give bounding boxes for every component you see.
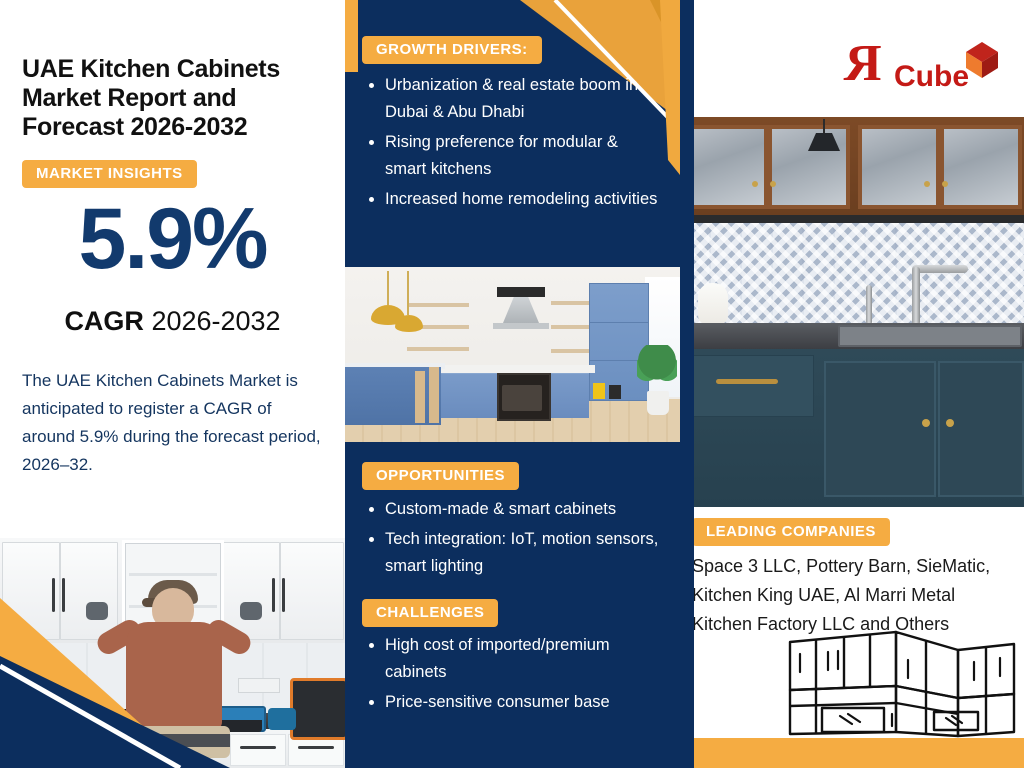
brand-logo[interactable]: R Cube (832, 34, 1002, 102)
list-item: Increased home remodeling activities (365, 186, 661, 213)
challenges-badge: CHALLENGES (362, 599, 498, 627)
list-item: Price-sensitive consumer base (365, 689, 661, 716)
installer-photo (0, 538, 345, 768)
leading-companies-badge-label: LEADING COMPANIES (692, 518, 890, 546)
growth-drivers-badge: GROWTH DRIVERS: (362, 36, 542, 64)
market-description: The UAE Kitchen Cabinets Market is antic… (22, 367, 327, 479)
market-insights-badge: MARKET INSIGHTS (22, 160, 197, 188)
wood-teal-kitchen-photo (680, 117, 1024, 507)
cagr-label: CAGR 2026-2032 (0, 305, 345, 337)
list-item: Tech integration: IoT, motion sensors, s… (365, 526, 661, 580)
market-insights-badge-label: MARKET INSIGHTS (22, 160, 197, 188)
bottom-orange-bar (680, 738, 1024, 768)
challenges-badge-label: CHALLENGES (362, 599, 498, 627)
cagr-label-years: 2026-2032 (144, 306, 281, 336)
challenges-list: High cost of imported/premium cabinets P… (365, 632, 661, 719)
right-panel-left-navy-strip (680, 0, 694, 768)
list-item: Rising preference for modular & smart ki… (365, 129, 661, 183)
orange-tab-decoration (345, 0, 358, 72)
kitchen-cabinet-line-art-icon (788, 628, 1024, 740)
opportunities-badge-label: OPPORTUNITIES (362, 462, 519, 490)
cagr-label-bold: CAGR (64, 306, 144, 336)
list-item: High cost of imported/premium cabinets (365, 632, 661, 686)
right-panel: R Cube (680, 0, 1024, 768)
opportunities-list: Custom-made & smart cabinets Tech integr… (365, 496, 661, 583)
middle-panel: GROWTH DRIVERS: Urbanization & real esta… (345, 0, 680, 768)
logo-reversed-r: R (844, 38, 882, 90)
page-title: UAE Kitchen Cabinets Market Report and F… (22, 55, 322, 142)
blue-kitchen-photo (345, 267, 680, 442)
growth-drivers-badge-label: GROWTH DRIVERS: (362, 36, 542, 64)
opportunities-badge: OPPORTUNITIES (362, 462, 519, 490)
cagr-value: 5.9% (0, 196, 345, 282)
growth-drivers-list: Urbanization & real estate boom in Dubai… (365, 72, 661, 216)
logo-wordmark: Cube (894, 62, 969, 92)
list-item: Custom-made & smart cabinets (365, 496, 661, 523)
leading-companies-badge: LEADING COMPANIES (692, 518, 890, 546)
left-panel: UAE Kitchen Cabinets Market Report and F… (0, 0, 345, 768)
list-item: Urbanization & real estate boom in Dubai… (365, 72, 661, 126)
cube-icon (960, 36, 1004, 80)
infographic-canvas: UAE Kitchen Cabinets Market Report and F… (0, 0, 1024, 768)
leading-companies-text: Space 3 LLC, Pottery Barn, SieMatic, Kit… (692, 552, 1012, 639)
pendant-light-icon (804, 119, 844, 153)
